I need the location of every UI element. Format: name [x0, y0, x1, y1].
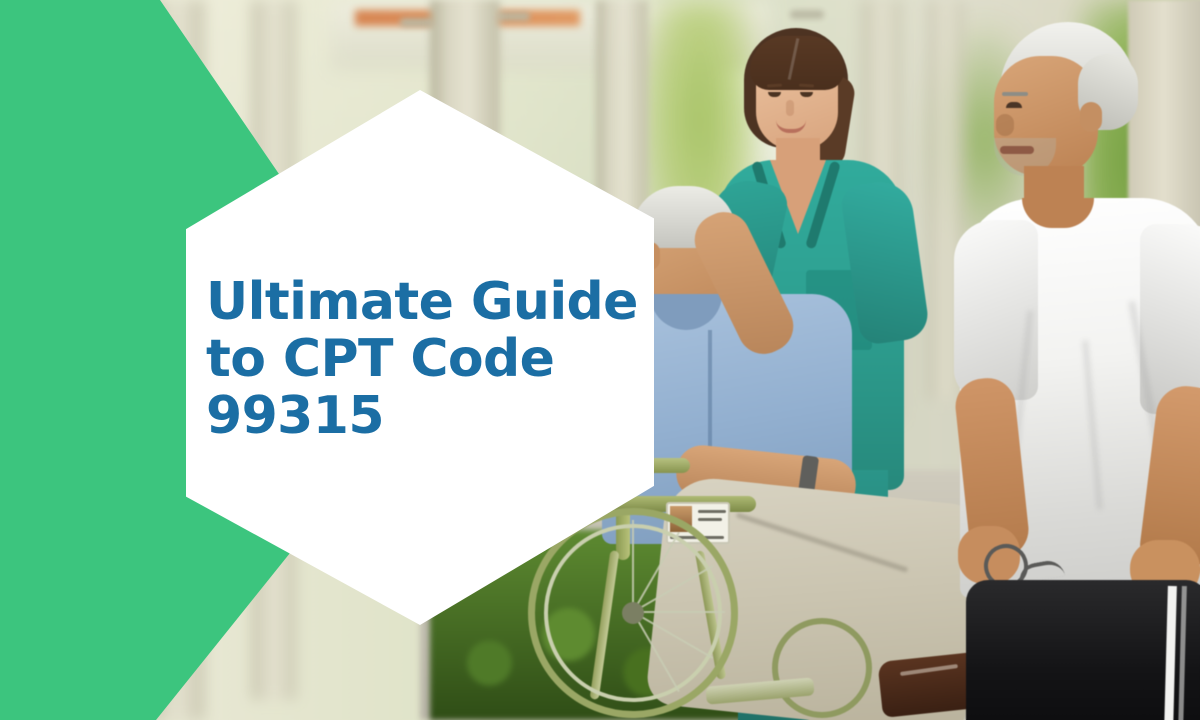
page-title: Ultimate Guide to CPT Code 99315	[206, 274, 646, 445]
man-eye	[1006, 102, 1022, 108]
man-eyebrow	[1002, 92, 1028, 96]
ceiling-lamp-icon	[496, 12, 530, 21]
nurse-nose	[786, 100, 794, 116]
title-line-1: Ultimate Guide	[206, 274, 646, 331]
man-mouth	[1000, 146, 1034, 154]
ceiling-lamp-icon	[790, 10, 824, 19]
title-line-3: 99315	[206, 388, 646, 445]
wheelchair-caster-wheel	[772, 618, 872, 718]
id-tag-text-line	[698, 510, 726, 513]
id-tag-text-line	[698, 518, 722, 521]
title-line-2: to CPT Code	[206, 331, 646, 388]
man-ear	[1080, 102, 1102, 132]
ceiling-lamp-icon	[400, 18, 434, 27]
elderly-man-figure	[960, 10, 1200, 720]
man-nose	[996, 114, 1014, 136]
title-card: Ultimate Guide to CPT Code 99315	[186, 90, 654, 625]
article-hero-banner: Ultimate Guide to CPT Code 99315	[0, 0, 1200, 720]
